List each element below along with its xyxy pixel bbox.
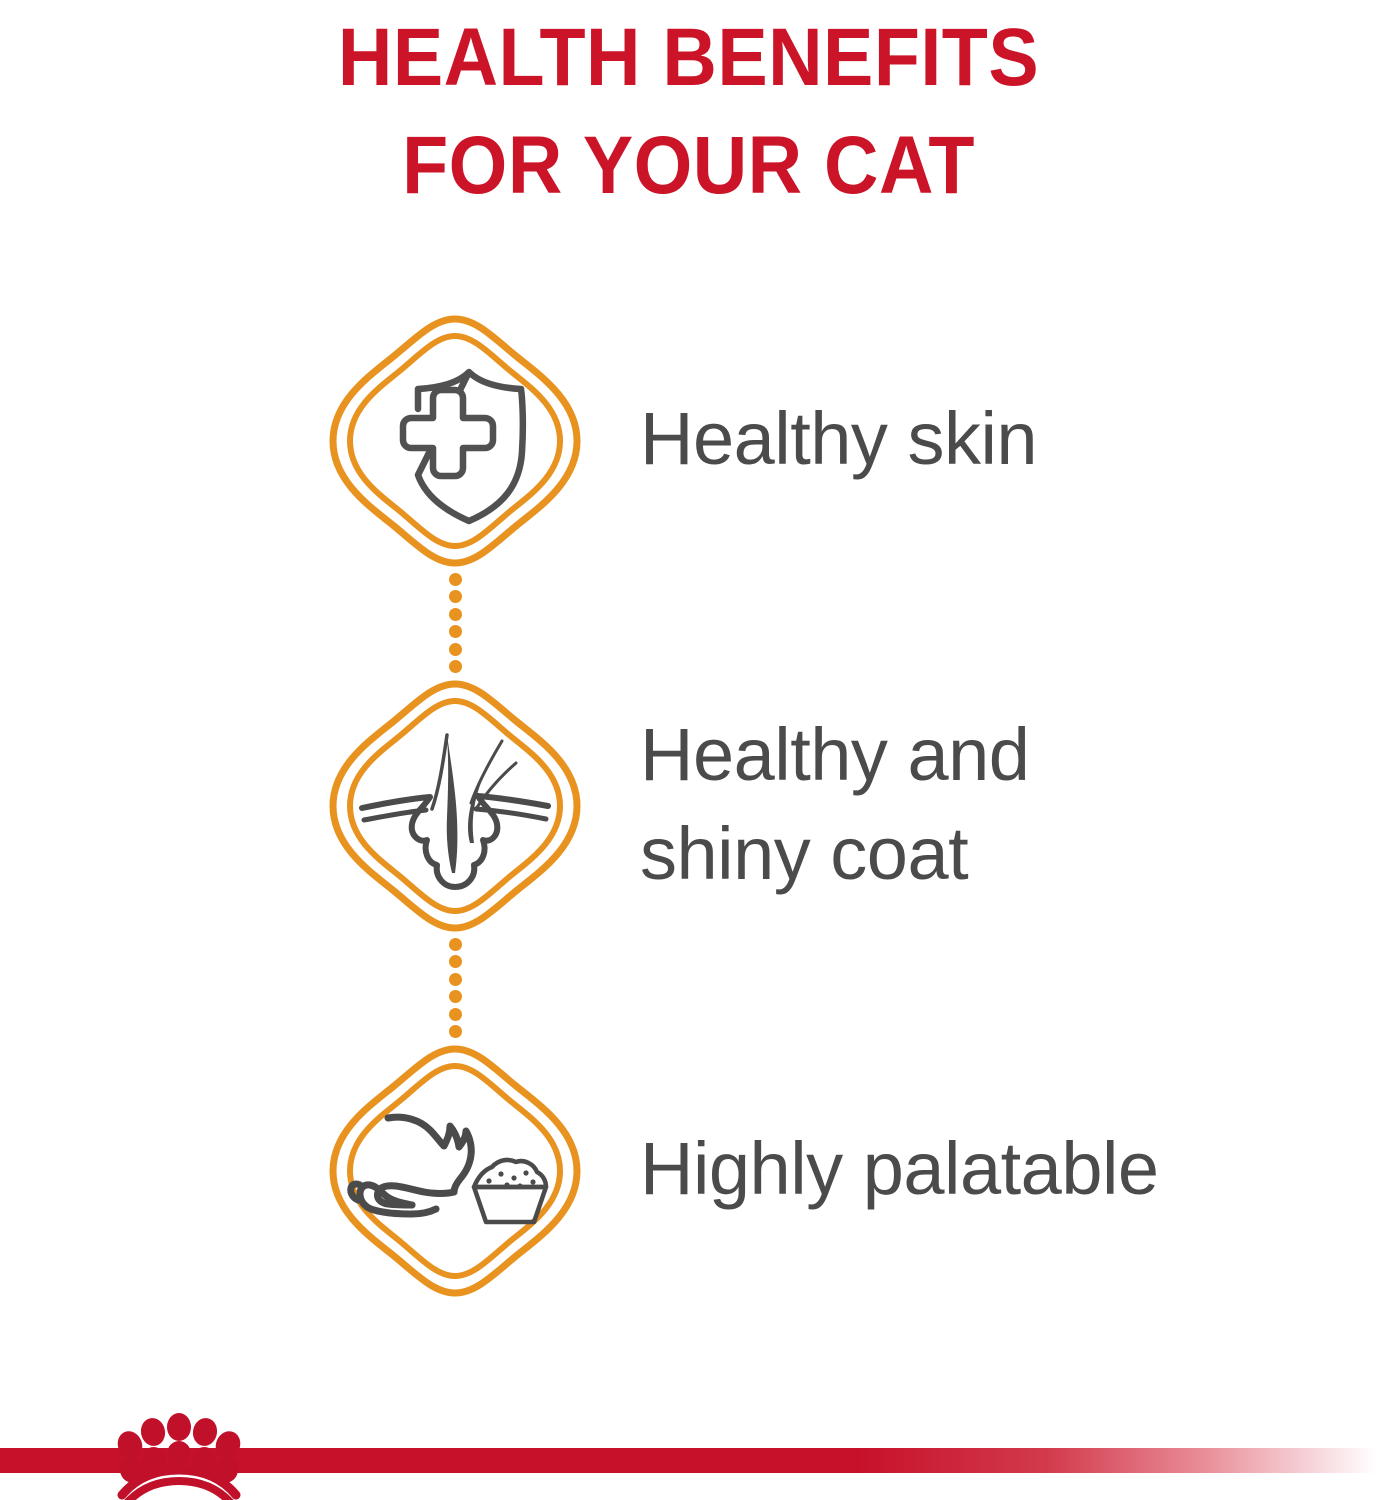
footer [0,1380,1377,1500]
benefit-item-healthy-skin: Healthy skin [0,312,1377,567]
connector-dot [449,625,462,638]
benefit-label-shiny-coat: Healthy and shiny coat [640,706,1340,903]
connector-dot [449,1008,462,1021]
benefit-item-highly-palatable: Highly palatable [0,1042,1377,1297]
benefit-item-shiny-coat: Healthy and shiny coat [0,677,1377,932]
connector-dots-1 [0,567,1377,677]
connector-dot [449,1025,462,1038]
benefit-label-healthy-skin: Healthy skin [640,390,1340,488]
royal-canin-crown-logo [92,1392,267,1500]
connector-dots-2 [0,932,1377,1042]
connector-dot [449,955,462,968]
benefit-label-highly-palatable: Highly palatable [640,1120,1340,1218]
shield-with-cross-icon [326,312,584,570]
connector-dot [449,643,462,656]
connector-dot [449,973,462,986]
connector-dot [449,938,462,951]
connector-dot [449,608,462,621]
connector-dot [449,660,462,673]
page-title: HEALTH BENEFITS FOR YOUR CAT [55,0,1322,220]
connector-dot [449,590,462,603]
hair-follicle-icon [326,677,584,935]
cat-eating-bowl-icon [326,1042,584,1300]
connector-dot [449,573,462,586]
benefits-list: Healthy skin [0,312,1377,1297]
connector-dot [449,990,462,1003]
